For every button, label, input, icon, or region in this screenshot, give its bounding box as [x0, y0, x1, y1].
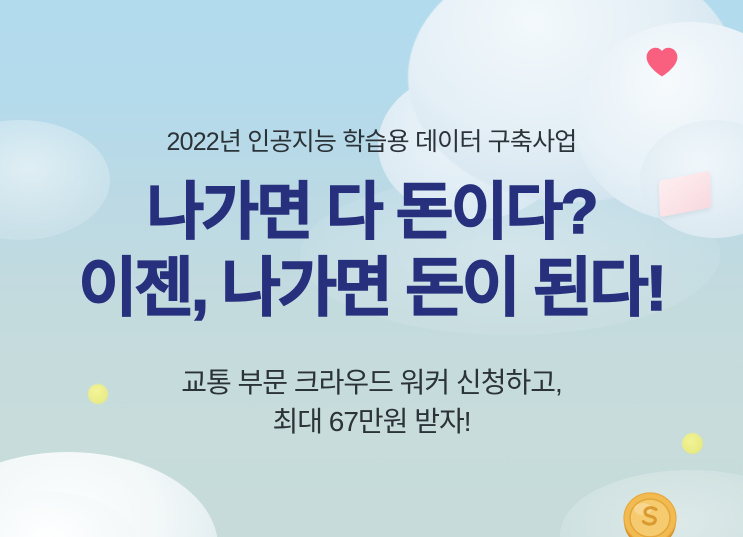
body-line-1: 교통 부문 크라우드 워커 신청하고,: [181, 364, 562, 403]
banner-subtitle: 2022년 인공지능 학습용 데이터 구축사업: [166, 122, 576, 158]
headline-line-1: 나가면 다 돈이다?: [147, 182, 597, 244]
banner-headline: 나가면 다 돈이다? 이젠, 나가면 돈이 된다!: [79, 182, 665, 320]
promo-banner: 2022년 인공지능 학습용 데이터 구축사업 나가면 다 돈이다? 이젠, 나…: [0, 0, 743, 537]
headline-line-2: 이젠, 나가면 돈이 된다!: [79, 256, 665, 320]
banner-content: 2022년 인공지능 학습용 데이터 구축사업 나가면 다 돈이다? 이젠, 나…: [0, 0, 743, 537]
body-line-2: 최대 67만원 받자!: [272, 403, 470, 442]
banner-body: 교통 부문 크라우드 워커 신청하고, 최대 67만원 받자!: [181, 364, 562, 441]
